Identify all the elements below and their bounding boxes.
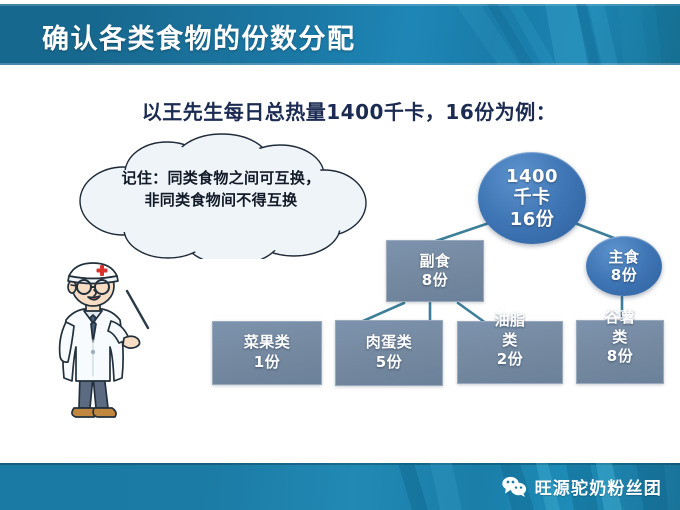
cloud-line-1: 记住：同类食物之间可互换， (62, 167, 380, 189)
edge-total-side (433, 222, 492, 242)
node-grain-label-2: 类 (612, 328, 628, 348)
footer-brand-text: 旺源驼奶粉丝团 (535, 474, 662, 499)
node-staple-portions: 8份 (611, 266, 637, 284)
node-meat-portions: 5份 (376, 353, 402, 373)
node-grain-portions: 8份 (607, 347, 633, 367)
node-total-calories[interactable]: 1400 千卡 16份 (478, 152, 586, 244)
node-grain-label-1: 谷薯 (604, 308, 635, 328)
node-total-value: 1400 (506, 166, 558, 187)
node-grains-tubers[interactable]: 谷薯 类 8份 (576, 320, 664, 384)
node-side-label: 副食 (419, 252, 450, 272)
node-total-unit: 千卡 (514, 187, 551, 208)
header-bottom-highlight (0, 63, 680, 65)
node-vegetables-fruit[interactable]: 菜果类 1份 (212, 321, 322, 385)
page-title: 确认各类食物的份数分配 (42, 17, 356, 56)
node-staple-label: 主食 (608, 248, 639, 266)
slide-canvas: 确认各类食物的份数分配 以王先生每日总热量1400千卡，16份为例： (0, 0, 680, 510)
slide-footer-bar: 旺源驼奶粉丝团 (0, 463, 680, 510)
edge-total-staple (572, 222, 614, 238)
node-oil-label-1: 油脂 (494, 311, 525, 331)
cloud-callout-text: 记住：同类食物之间可互换， 非同类食物间不得互换 (62, 167, 380, 211)
node-side-portions: 8份 (422, 271, 448, 291)
node-total-portions: 16份 (510, 209, 555, 230)
node-staple-food[interactable]: 主食 8份 (586, 236, 662, 296)
node-meat-label: 肉蛋类 (366, 333, 413, 353)
cloud-callout: 记住：同类食物之间可互换， 非同类食物间不得互换 (62, 131, 380, 259)
node-meat-egg[interactable]: 肉蛋类 5份 (335, 320, 443, 386)
doctor-illustration (36, 256, 186, 436)
node-veg-label: 菜果类 (244, 333, 291, 353)
node-oil-portions: 2份 (497, 350, 523, 370)
node-side-food[interactable]: 副食 8份 (386, 240, 484, 302)
node-veg-portions: 1份 (254, 353, 280, 373)
node-oil-label-2: 类 (502, 331, 518, 351)
wechat-icon (501, 476, 527, 497)
node-fats-oils[interactable]: 油脂 类 2份 (457, 321, 563, 384)
slide-header-bar: 确认各类食物的份数分配 (0, 4, 680, 65)
footer-brand: 旺源驼奶粉丝团 (501, 463, 662, 510)
slide-subtitle: 以王先生每日总热量1400千卡，16份为例： (0, 96, 680, 125)
cloud-line-2: 非同类食物间不得互换 (62, 189, 380, 211)
